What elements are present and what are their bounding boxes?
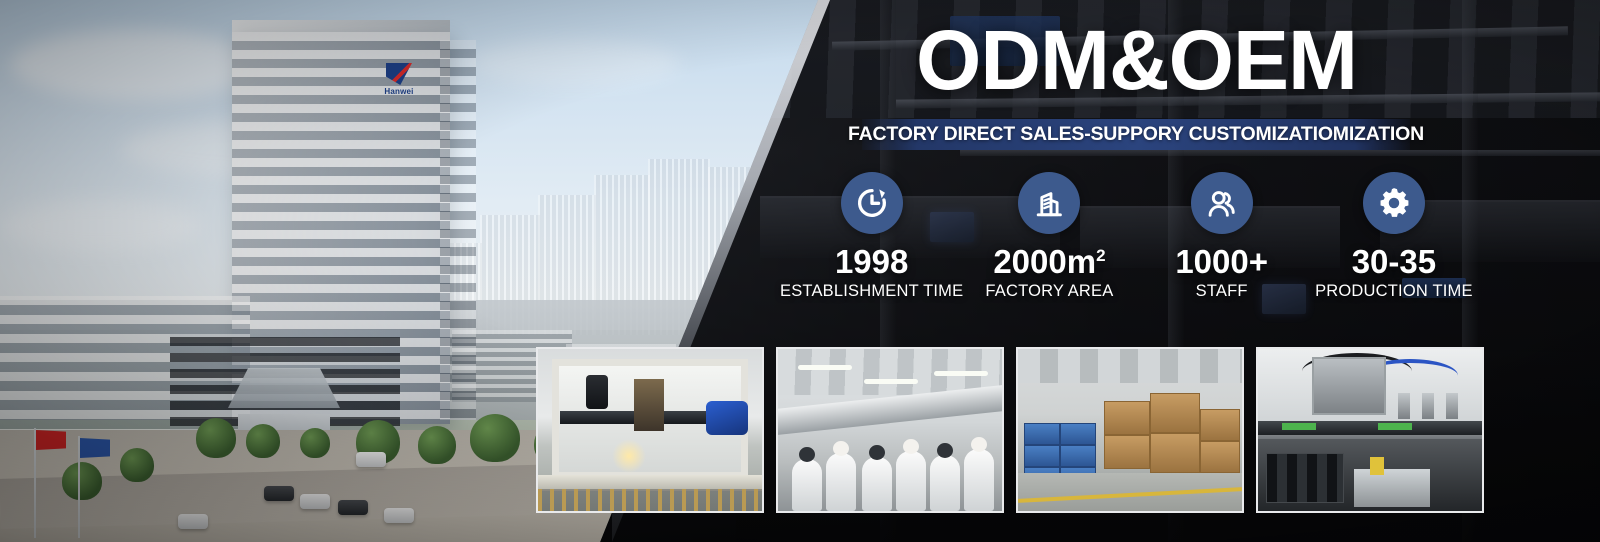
building-icon xyxy=(1018,172,1080,234)
flag xyxy=(36,430,66,450)
stat-value-text: 2000m xyxy=(993,243,1096,280)
work-plate xyxy=(1354,469,1430,507)
worker xyxy=(964,449,994,511)
car xyxy=(300,494,330,509)
light-tube xyxy=(798,365,852,370)
parts-tray xyxy=(1266,453,1344,503)
tower-side-facade xyxy=(440,40,476,420)
cloud xyxy=(10,30,260,100)
stat-value: 1000+ xyxy=(1175,244,1268,280)
carton xyxy=(1104,435,1150,469)
robot-gantry-cell-photo[interactable] xyxy=(536,347,764,513)
blue-crate xyxy=(1024,445,1060,467)
flagpole xyxy=(78,436,80,538)
hanwei-logo-text: Hanwei xyxy=(378,87,420,96)
stat-value: 30-35 xyxy=(1352,244,1436,280)
tree xyxy=(418,426,456,464)
light-tube xyxy=(864,379,918,384)
thumbnail-strip xyxy=(536,347,1494,513)
blue-crate xyxy=(1060,445,1096,467)
stat-production-time: 30-35 PRODUCTION TIME xyxy=(1308,172,1480,301)
worker xyxy=(826,453,856,511)
blue-crate xyxy=(1060,423,1096,445)
stat-staff: 1000+ STAFF xyxy=(1136,172,1308,301)
carton xyxy=(1104,401,1150,435)
car xyxy=(384,508,414,523)
company-odm-oem-banner: Hanwei ODM&OEM FACTORY DIRECT SALES-SUPP… xyxy=(0,0,1600,542)
gantry-head xyxy=(1312,357,1386,415)
gear-icon xyxy=(1363,172,1425,234)
subtitle-text: FACTORY DIRECT SALES-SUPPORY CUSTOMIZATI… xyxy=(848,123,1424,146)
fixture-pin xyxy=(1446,393,1458,419)
brass-rods xyxy=(538,489,762,513)
stat-label: STAFF xyxy=(1196,282,1248,301)
car xyxy=(338,500,368,515)
ceiling xyxy=(1018,349,1242,383)
stat-label: FACTORY AREA xyxy=(985,282,1113,301)
worker xyxy=(930,455,960,511)
stat-label: PRODUCTION TIME xyxy=(1315,282,1473,301)
stat-label: ESTABLISHMENT TIME xyxy=(780,282,963,301)
cloud xyxy=(470,40,680,86)
car xyxy=(264,486,294,501)
worker xyxy=(792,459,822,511)
stat-establishment-time: 1998 ESTABLISHMENT TIME xyxy=(780,172,963,301)
stat-value: 1998 xyxy=(835,244,908,280)
factory-beam xyxy=(960,150,1600,156)
carton xyxy=(1200,409,1240,441)
tree xyxy=(300,428,330,458)
fixture-pin xyxy=(1422,393,1434,419)
stat-factory-area: 2000m2 FACTORY AREA xyxy=(963,172,1135,301)
lamp-glow xyxy=(612,439,646,473)
page-title: ODM&OEM xyxy=(916,18,1357,102)
carton xyxy=(1150,393,1200,433)
flagpole xyxy=(34,428,36,538)
light-tube xyxy=(934,371,988,376)
carton xyxy=(1200,441,1240,473)
dispense-head xyxy=(634,379,664,431)
worker xyxy=(896,451,926,511)
blue-crate xyxy=(1024,423,1060,445)
hanwei-logo: Hanwei xyxy=(378,63,420,107)
subtitle-bar: FACTORY DIRECT SALES-SUPPORY CUSTOMIZATI… xyxy=(862,119,1410,150)
cnc-automation-station-photo[interactable] xyxy=(1256,347,1484,513)
tree xyxy=(120,448,154,482)
carton xyxy=(1150,433,1200,473)
yellow-tool xyxy=(1370,457,1384,475)
stat-value-text: 1998 xyxy=(835,243,908,280)
users-icon xyxy=(1191,172,1253,234)
car xyxy=(356,452,386,467)
blue-robot-arm xyxy=(706,401,748,435)
pcb-panel xyxy=(1378,423,1412,430)
stat-value: 2000m2 xyxy=(993,244,1105,280)
car xyxy=(178,514,208,529)
pcb-panel xyxy=(1282,423,1316,430)
stats-row: 1998 ESTABLISHMENT TIME 2000m2 FACTORY A… xyxy=(780,172,1480,322)
assembly-line-workers-photo[interactable] xyxy=(776,347,1004,513)
tree xyxy=(246,424,280,458)
fixture-pin xyxy=(1398,393,1410,419)
stat-value-text: 30-35 xyxy=(1352,243,1436,280)
warehouse-cartons-photo[interactable] xyxy=(1016,347,1244,513)
tree xyxy=(470,414,520,462)
stat-value-unit: 2 xyxy=(1096,246,1105,265)
cloud xyxy=(0,200,200,252)
tree xyxy=(196,418,236,458)
tree xyxy=(62,462,102,500)
motor xyxy=(586,375,608,409)
clock-history-icon xyxy=(841,172,903,234)
hanwei-logo-mark xyxy=(386,63,412,85)
stat-value-text: 1000+ xyxy=(1175,243,1268,280)
worker xyxy=(862,457,892,511)
flag xyxy=(80,438,110,458)
